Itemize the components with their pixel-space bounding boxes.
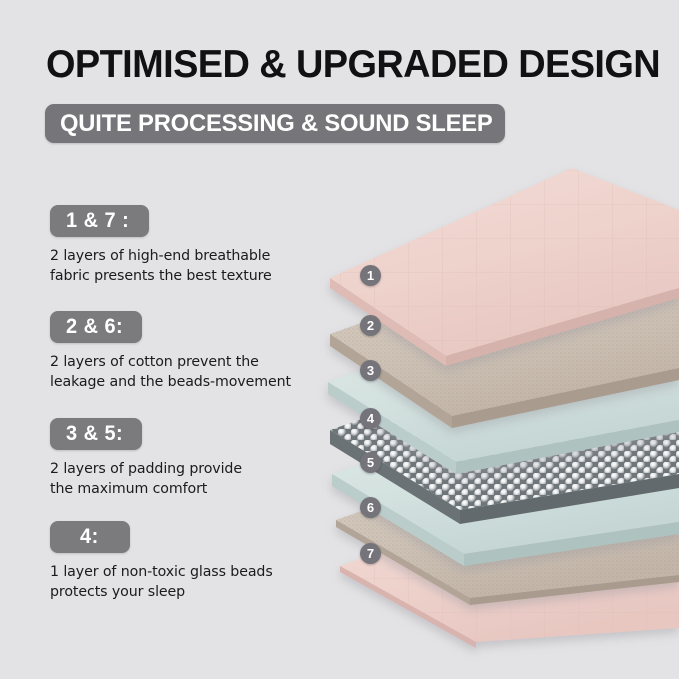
infographic-page: OPTIMISED & UPGRADED DESIGN QUITE PROCES… — [0, 0, 679, 679]
layer-marker-3: 3 — [360, 360, 381, 381]
badge-label: 4: — [80, 521, 99, 553]
info-block-4: 4: 1 layer of non-toxic glass beads prot… — [50, 521, 320, 602]
subtitle-text: QUITE PROCESSING & SOUND SLEEP — [60, 104, 493, 143]
layer-marker-2: 2 — [360, 315, 381, 336]
layer-marker-6: 6 — [360, 497, 381, 518]
badge-3-and-5: 3 & 5: — [50, 418, 142, 450]
layer-7-quilted-fabric — [340, 494, 679, 648]
badge-2-and-6: 2 & 6: — [50, 311, 142, 343]
layer-marker-7: 7 — [360, 543, 381, 564]
info-block-2-and-6: 2 & 6: 2 layers of cotton prevent the le… — [50, 311, 320, 392]
layer-marker-4: 4 — [360, 408, 381, 429]
page-title: OPTIMISED & UPGRADED DESIGN — [46, 43, 637, 87]
layer-5-padding — [332, 398, 679, 566]
badge-label: 1 & 7 : — [66, 205, 129, 237]
layer-2-cotton — [330, 250, 679, 428]
info-block-3-and-5: 3 & 5: 2 layers of padding provide the m… — [50, 418, 320, 499]
layer-marker-1: 1 — [360, 265, 381, 286]
layer-marker-5: 5 — [360, 452, 381, 473]
subtitle-banner: QUITE PROCESSING & SOUND SLEEP — [45, 104, 505, 143]
layer-4-glass-beads — [330, 352, 679, 524]
badge-label: 2 & 6: — [66, 311, 123, 343]
badge-label: 3 & 5: — [66, 418, 123, 450]
description-3-and-5: 2 layers of padding provide the maximum … — [50, 460, 320, 499]
description-2-and-6: 2 layers of cotton prevent the leakage a… — [50, 353, 320, 392]
info-block-1-and-7: 1 & 7 : 2 layers of high-end breathable … — [50, 205, 320, 286]
badge-4: 4: — [50, 521, 130, 553]
description-4: 1 layer of non-toxic glass beads protect… — [50, 563, 320, 602]
description-1-and-7: 2 layers of high-end breathable fabric p… — [50, 247, 320, 286]
layer-6-cotton — [336, 446, 679, 605]
layer-1-quilted-fabric — [330, 168, 679, 366]
badge-1-and-7: 1 & 7 : — [50, 205, 149, 237]
